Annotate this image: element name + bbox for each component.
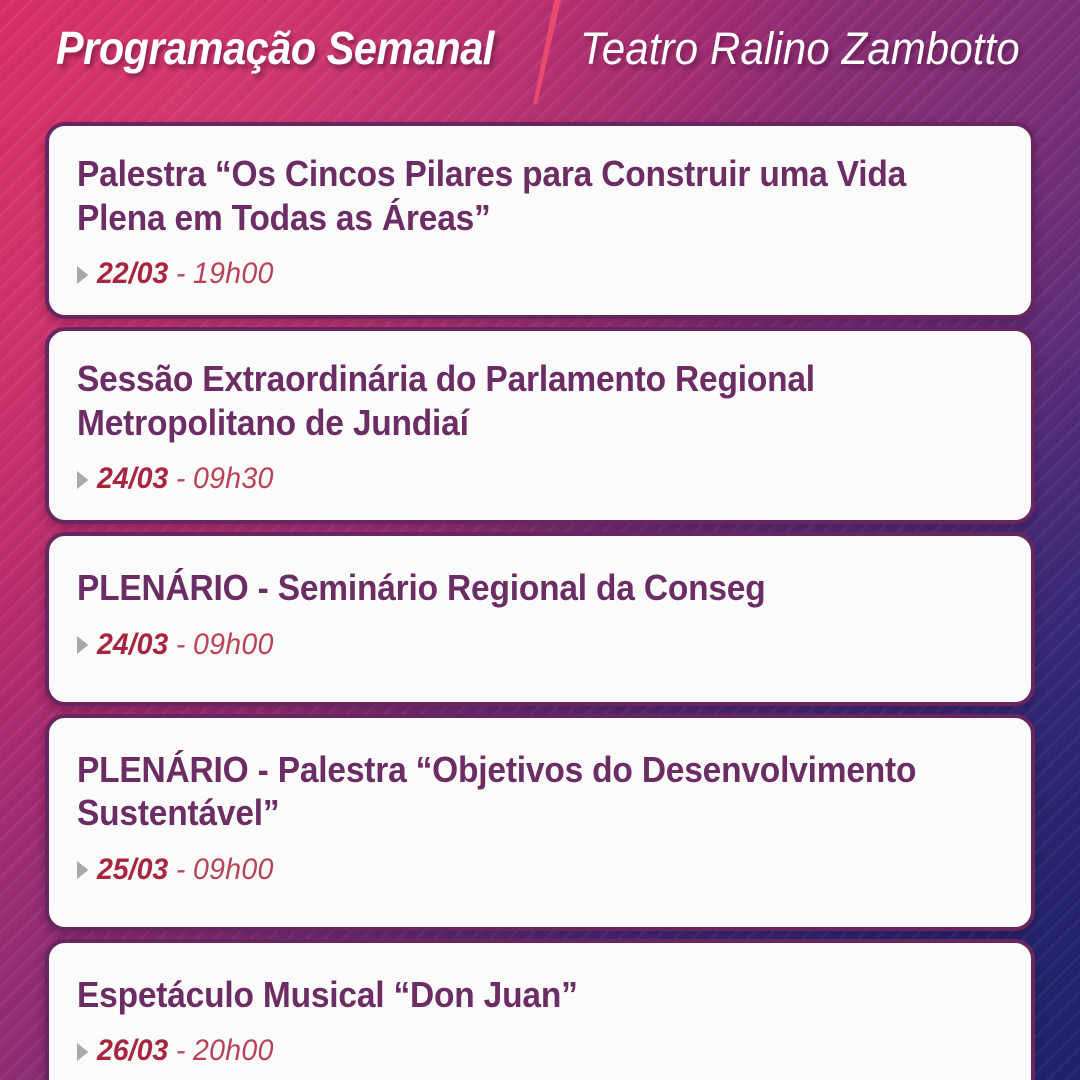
poster-canvas: Programação Semanal Teatro Ralino Zambot… bbox=[0, 0, 1080, 1080]
event-list: Palestra “Os Cincos Pilares para Constru… bbox=[45, 122, 1035, 1080]
event-time: 19h00 bbox=[193, 257, 274, 291]
triangle-right-icon bbox=[77, 266, 88, 284]
event-schedule: 24/03 - 09h00 bbox=[77, 628, 957, 662]
event-schedule: 25/03 - 09h00 bbox=[77, 853, 957, 887]
event-schedule: 26/03 - 20h00 bbox=[77, 1034, 957, 1068]
event-card[interactable]: PLENÁRIO - Palestra “Objetivos do Desenv… bbox=[45, 714, 1035, 931]
event-time: 09h00 bbox=[193, 628, 274, 662]
event-card[interactable]: Sessão Extraordinária do Parlamento Regi… bbox=[45, 327, 1035, 524]
event-title: PLENÁRIO - Seminário Regional da Conseg bbox=[77, 566, 1003, 610]
poster-header: Programação Semanal Teatro Ralino Zambot… bbox=[0, 0, 1080, 112]
triangle-right-icon bbox=[77, 636, 88, 654]
event-date: 22/03 bbox=[97, 257, 168, 291]
event-separator: - bbox=[176, 1034, 186, 1068]
triangle-right-icon bbox=[77, 471, 88, 489]
event-title: Palestra “Os Cincos Pilares para Constru… bbox=[77, 152, 1003, 239]
event-date: 24/03 bbox=[97, 462, 168, 496]
page-title: Programação Semanal bbox=[56, 24, 494, 72]
event-card[interactable]: PLENÁRIO - Seminário Regional da Conseg … bbox=[45, 532, 1035, 706]
event-date: 24/03 bbox=[97, 628, 168, 662]
event-time: 09h00 bbox=[193, 853, 274, 887]
event-title: Sessão Extraordinária do Parlamento Regi… bbox=[77, 357, 1003, 444]
event-title: Espetáculo Musical “Don Juan” bbox=[77, 973, 1003, 1017]
triangle-right-icon bbox=[77, 861, 88, 879]
event-separator: - bbox=[176, 853, 186, 887]
diagonal-slash-icon bbox=[528, 0, 562, 108]
venue-name: Teatro Ralino Zambotto bbox=[580, 25, 1020, 72]
event-title: PLENÁRIO - Palestra “Objetivos do Desenv… bbox=[77, 748, 1003, 835]
event-date: 25/03 bbox=[97, 853, 168, 887]
event-card[interactable]: Palestra “Os Cincos Pilares para Constru… bbox=[45, 122, 1035, 319]
event-separator: - bbox=[176, 462, 186, 496]
event-time: 09h30 bbox=[193, 462, 274, 496]
triangle-right-icon bbox=[77, 1043, 88, 1061]
event-separator: - bbox=[176, 628, 186, 662]
event-separator: - bbox=[176, 257, 186, 291]
event-schedule: 22/03 - 19h00 bbox=[77, 257, 957, 291]
event-card[interactable]: Espetáculo Musical “Don Juan” 26/03 - 20… bbox=[45, 939, 1035, 1080]
event-time: 20h00 bbox=[193, 1034, 274, 1068]
event-schedule: 24/03 - 09h30 bbox=[77, 462, 957, 496]
event-date: 26/03 bbox=[97, 1034, 168, 1068]
